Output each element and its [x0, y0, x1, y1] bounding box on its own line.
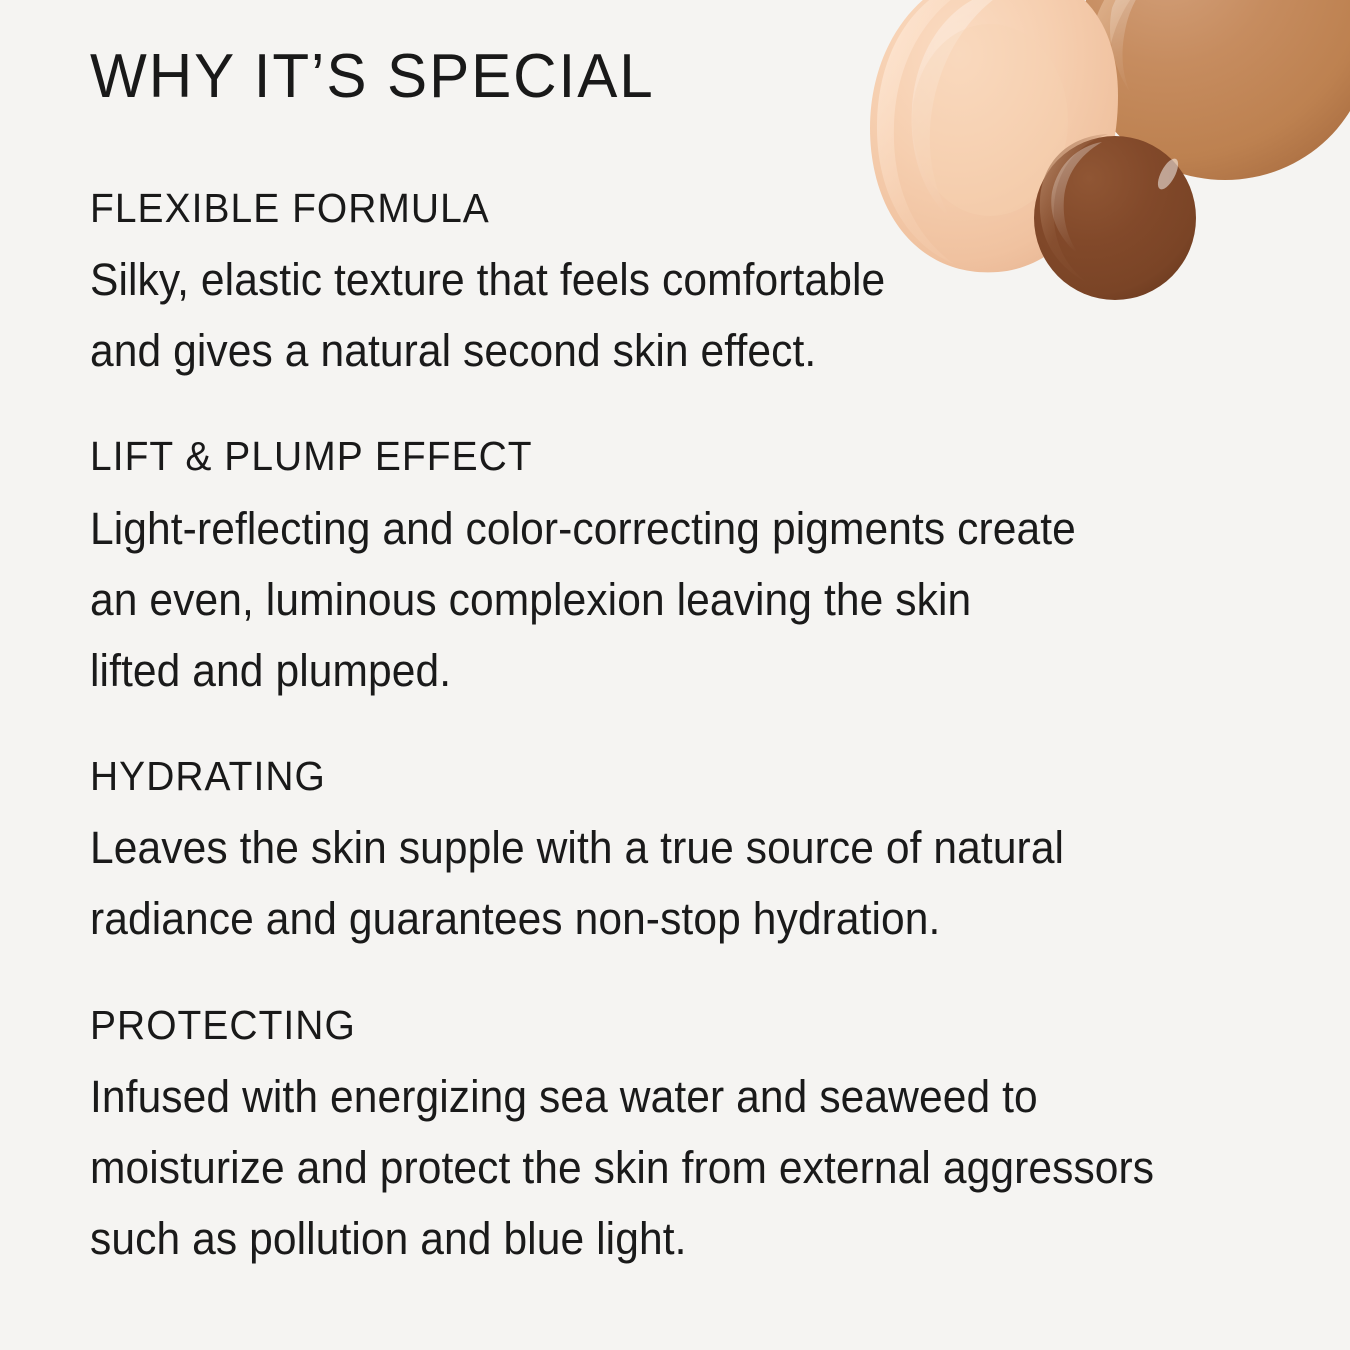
product-description-panel: WHY IT’S SPECIAL FLEXIBLE FORMULA Silky,…	[0, 0, 1350, 1350]
section-body: Infused with energizing sea water and se…	[90, 1061, 1224, 1274]
section-body: Leaves the skin supple with a true sourc…	[90, 812, 1224, 954]
description-content: WHY IT’S SPECIAL FLEXIBLE FORMULA Silky,…	[90, 44, 1290, 1274]
body-line: and gives a natural second skin effect.	[90, 315, 1224, 386]
body-line: Infused with energizing sea water and se…	[90, 1061, 1224, 1132]
section-protecting: PROTECTING Infused with energizing sea w…	[90, 1001, 1290, 1275]
body-line: moisturize and protect the skin from ext…	[90, 1132, 1224, 1203]
page-title: WHY IT’S SPECIAL	[90, 44, 1254, 110]
section-heading: LIFT & PLUMP EFFECT	[90, 432, 1230, 480]
section-heading: PROTECTING	[90, 1001, 1230, 1049]
body-line: lifted and plumped.	[90, 635, 1224, 706]
section-flexible-formula: FLEXIBLE FORMULA Silky, elastic texture …	[90, 184, 1290, 387]
section-body: Light-reflecting and color-correcting pi…	[90, 493, 1224, 706]
section-heading: FLEXIBLE FORMULA	[90, 184, 1230, 232]
section-body: Silky, elastic texture that feels comfor…	[90, 244, 1224, 386]
section-heading: HYDRATING	[90, 752, 1230, 800]
body-line: Light-reflecting and color-correcting pi…	[90, 493, 1224, 564]
body-line: Leaves the skin supple with a true sourc…	[90, 812, 1224, 883]
body-line: such as pollution and blue light.	[90, 1203, 1224, 1274]
body-line: radiance and guarantees non-stop hydrati…	[90, 883, 1224, 954]
section-hydrating: HYDRATING Leaves the skin supple with a …	[90, 752, 1290, 955]
body-line: an even, luminous complexion leaving the…	[90, 564, 1224, 635]
body-line: Silky, elastic texture that feels comfor…	[90, 244, 1224, 315]
section-lift-and-plump-effect: LIFT & PLUMP EFFECT Light-reflecting and…	[90, 432, 1290, 706]
